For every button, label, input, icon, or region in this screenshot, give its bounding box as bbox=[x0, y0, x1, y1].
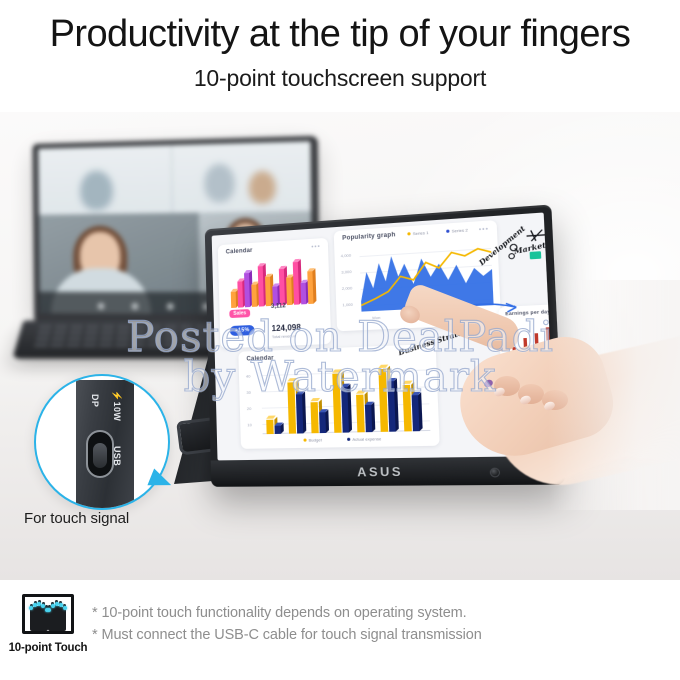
legend-budget: Budget bbox=[303, 437, 321, 443]
mini-bar-chart bbox=[228, 259, 322, 309]
page-subtitle: 10-point touchscreen support bbox=[0, 66, 680, 91]
card-title: Calendar bbox=[226, 248, 253, 256]
secondary-value: 3,112 bbox=[271, 303, 286, 310]
monitor-chin: ASUS bbox=[211, 456, 565, 487]
power-rating-label: ⚡10W bbox=[111, 390, 122, 421]
monitor-screen: Calendar ••• bbox=[212, 212, 556, 460]
x-tick: Mon bbox=[372, 315, 380, 321]
card-title: Calendar bbox=[246, 355, 273, 362]
x-tick: Tue bbox=[402, 313, 409, 319]
legend-actual: Actual expense bbox=[347, 436, 381, 442]
sales-pill: Sales bbox=[229, 309, 250, 318]
promo-page: Productivity at the tip of your fingers … bbox=[0, 0, 680, 680]
usbc-tongue bbox=[93, 443, 107, 468]
card-menu-icon[interactable]: ••• bbox=[311, 244, 321, 251]
card-menu-icon[interactable]: ••• bbox=[479, 227, 490, 234]
y-tick: 3,000 bbox=[341, 269, 352, 275]
card-title: Popularity graph bbox=[342, 232, 396, 242]
y-tick: 4,000 bbox=[341, 253, 352, 259]
legend-series-2: Series 2 bbox=[446, 227, 468, 234]
monitor-bezel: Calendar ••• bbox=[205, 204, 565, 486]
y-tick: 2,000 bbox=[342, 285, 353, 291]
usbc-port-housing: ⚡10W DP USB bbox=[76, 380, 134, 508]
legend-label: Series 1 bbox=[413, 230, 429, 236]
earnings-bar-chart bbox=[505, 321, 556, 377]
footnote-2: * Must connect the USB-C cable for touch… bbox=[92, 627, 482, 643]
dashboard-card-expenses[interactable]: Calendar 40 30 20 10 bbox=[238, 344, 439, 449]
total-value: 124,098 bbox=[271, 323, 301, 333]
power-button[interactable] bbox=[490, 468, 501, 478]
footnote-1: * 10-point touch functionality depends o… bbox=[92, 605, 467, 621]
callout-circle: ⚡10W DP USB bbox=[34, 374, 170, 510]
callout-caption: For touch signal bbox=[24, 510, 129, 527]
footer: 10-point Touch * 10-point touch function… bbox=[0, 580, 680, 680]
dp-label: DP bbox=[90, 394, 100, 407]
ten-point-touch-icon bbox=[22, 594, 74, 634]
usbc-connector bbox=[86, 430, 114, 478]
legend-label: Actual expense bbox=[352, 436, 381, 442]
growth-badge: +15% bbox=[230, 325, 255, 336]
total-value-caption: Total revenue bbox=[272, 333, 296, 339]
asus-logo: ASUS bbox=[357, 464, 403, 479]
arrow-annotation bbox=[425, 297, 526, 325]
dashboard-card-calendar[interactable]: Calendar ••• bbox=[218, 238, 332, 349]
legend-label: Series 2 bbox=[452, 227, 468, 233]
y-tick: 1,000 bbox=[342, 302, 353, 308]
touch-icon-label: 10-point Touch bbox=[0, 642, 96, 654]
legend-series-1: Series 1 bbox=[407, 230, 428, 237]
page-title: Productivity at the tip of your fingers bbox=[0, 14, 680, 55]
monitor-body: Calendar ••• bbox=[205, 204, 565, 486]
video-call-top-tiles bbox=[38, 141, 311, 214]
legend-label: Budget bbox=[309, 437, 322, 442]
portable-monitor: Calendar ••• bbox=[168, 222, 538, 492]
grouped-bar-chart bbox=[261, 365, 431, 434]
usbc-callout: ⚡10W DP USB bbox=[34, 374, 170, 510]
header: Productivity at the tip of your fingers … bbox=[0, 0, 680, 112]
product-photo: Calendar ••• bbox=[0, 112, 680, 580]
